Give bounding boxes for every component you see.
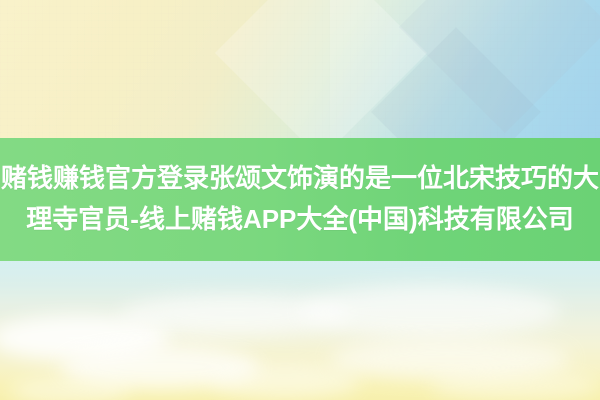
upper-gradient-panel [0,0,600,140]
cloud-shape [0,315,170,361]
cloud-shape [430,371,600,400]
sky-haze-overlay [0,261,600,400]
diamond-shape-icon [215,0,427,140]
cloud-shape [60,345,260,389]
cloud-shape [210,365,360,399]
lower-sky-panel [0,261,600,400]
diamond-shape-icon [399,0,600,133]
cloud-shape [330,339,570,379]
banner-headline: 赌钱赚钱官方登录张颂文饰演的是一位北宋技巧的大理寺官员-线上赌钱APP大全(中国… [0,138,600,240]
corner-highlight [330,0,600,140]
cloud-shape [300,285,560,337]
cloud-shape [10,377,130,400]
grid-texture-overlay [0,0,600,140]
promo-banner: 赌钱赚钱官方登录张颂文饰演的是一位北宋技巧的大理寺官员-线上赌钱APP大全(中国… [0,0,600,400]
cloud-shape [120,295,350,335]
diamond-shape-icon [371,27,541,140]
